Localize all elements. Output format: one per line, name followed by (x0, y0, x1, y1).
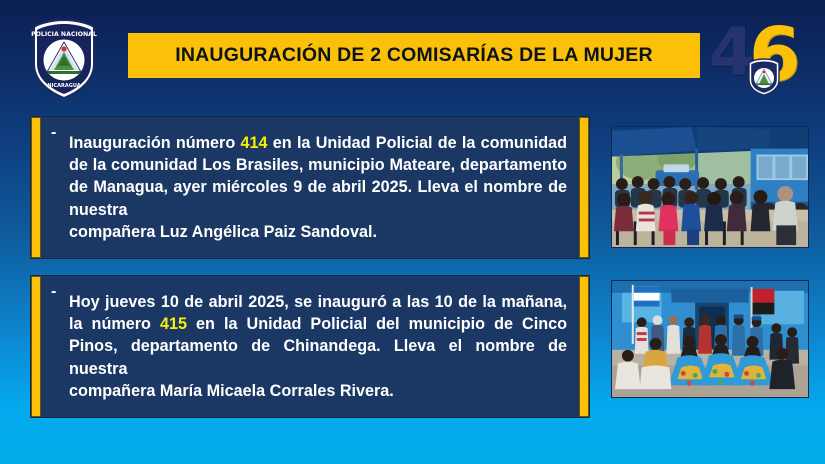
slide-canvas: POLICIA NACIONAL NICARAGUA INAUGURACIÓN … (0, 0, 825, 464)
bullet-dash-2: - (51, 280, 69, 301)
bullet-dash-1: - (51, 121, 69, 142)
text-card-1-body: - Inauguración número 414 en la Unidad P… (41, 117, 579, 258)
text-card-1: - Inauguración número 414 en la Unidad P… (30, 116, 590, 259)
accent-bar-right-2 (579, 276, 589, 417)
slide-content: - Inauguración número 414 en la Unidad P… (0, 108, 825, 464)
card-1-highlight-number: 414 (241, 134, 268, 152)
nicaragua-emblem-icon (747, 58, 781, 96)
accent-bar-left-2 (31, 276, 41, 417)
card-2-highlight-number: 415 (160, 315, 187, 333)
svg-text:POLICIA NACIONAL: POLICIA NACIONAL (31, 31, 97, 38)
photo-inauguration-cinco-pinos (611, 280, 809, 398)
slide-header: POLICIA NACIONAL NICARAGUA INAUGURACIÓN … (0, 0, 825, 108)
policia-nacional-crest-icon: POLICIA NACIONAL NICARAGUA (28, 18, 100, 100)
slide-title-banner: INAUGURACIÓN DE 2 COMISARÍAS DE LA MUJER (128, 33, 700, 78)
text-card-2-body: - Hoy jueves 10 de abril 2025, se inaugu… (41, 276, 579, 417)
card-2-last-line: compañera María Micaela Corrales Rivera. (69, 380, 567, 402)
svg-text:NICARAGUA: NICARAGUA (47, 83, 80, 89)
page-title: INAUGURACIÓN DE 2 COMISARÍAS DE LA MUJER (175, 44, 652, 67)
card-1-last-line: compañera Luz Angélica Paiz Sandoval. (69, 221, 567, 243)
text-card-1-paragraph: Inauguración número 414 en la Unidad Pol… (69, 132, 567, 242)
card-1-text-before: Inauguración número (69, 134, 241, 152)
text-card-2-paragraph: Hoy jueves 10 de abril 2025, se inauguró… (69, 291, 567, 401)
accent-bar-right-1 (579, 117, 589, 258)
anniversary-logo: 4 6 (707, 14, 811, 96)
accent-bar-left-1 (31, 117, 41, 258)
text-card-2: - Hoy jueves 10 de abril 2025, se inaugu… (30, 275, 590, 418)
photo-inauguration-los-brasiles (611, 126, 809, 248)
